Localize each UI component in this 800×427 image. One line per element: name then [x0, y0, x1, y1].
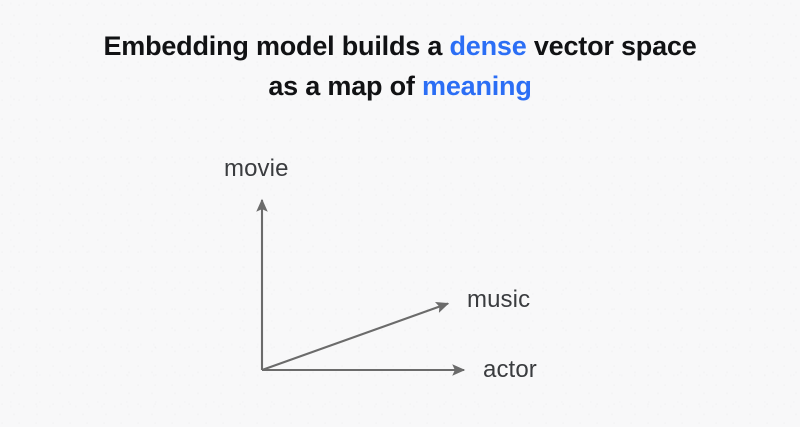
axes-svg — [0, 0, 800, 427]
axis-label-actor: actor — [483, 358, 537, 382]
axis-label-movie: movie — [224, 157, 289, 181]
slide-canvas: Embedding model builds a dense vector sp… — [0, 0, 800, 427]
axis-line-music — [262, 304, 448, 371]
vector-space-diagram: movie music actor — [0, 0, 800, 427]
axis-label-music: music — [467, 288, 530, 312]
